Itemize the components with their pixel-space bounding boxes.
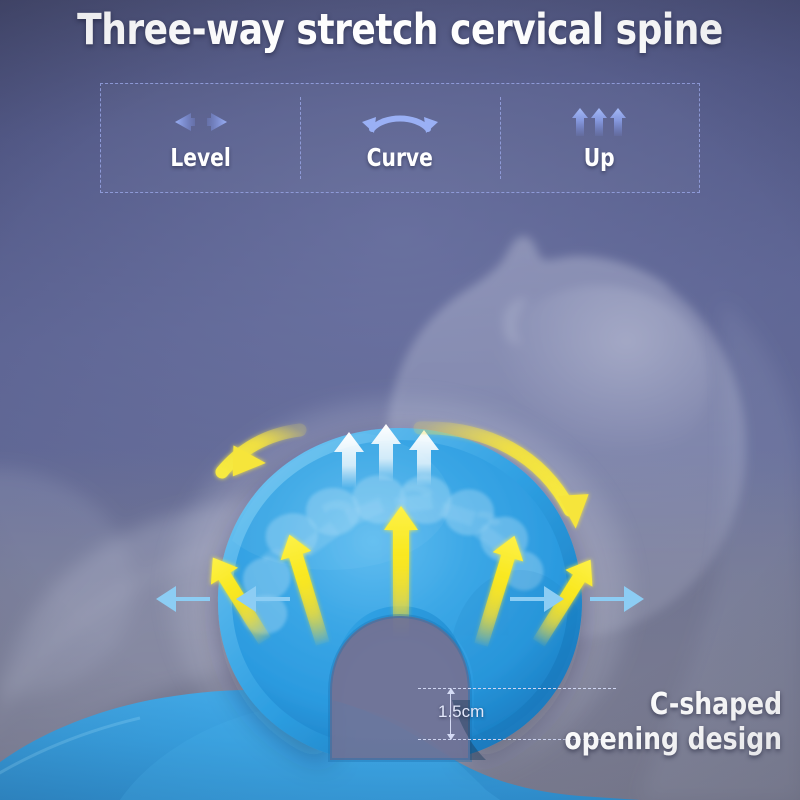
infographic-canvas: Three-way stretch cervical spine <box>0 0 800 800</box>
background-vignette <box>0 0 800 800</box>
